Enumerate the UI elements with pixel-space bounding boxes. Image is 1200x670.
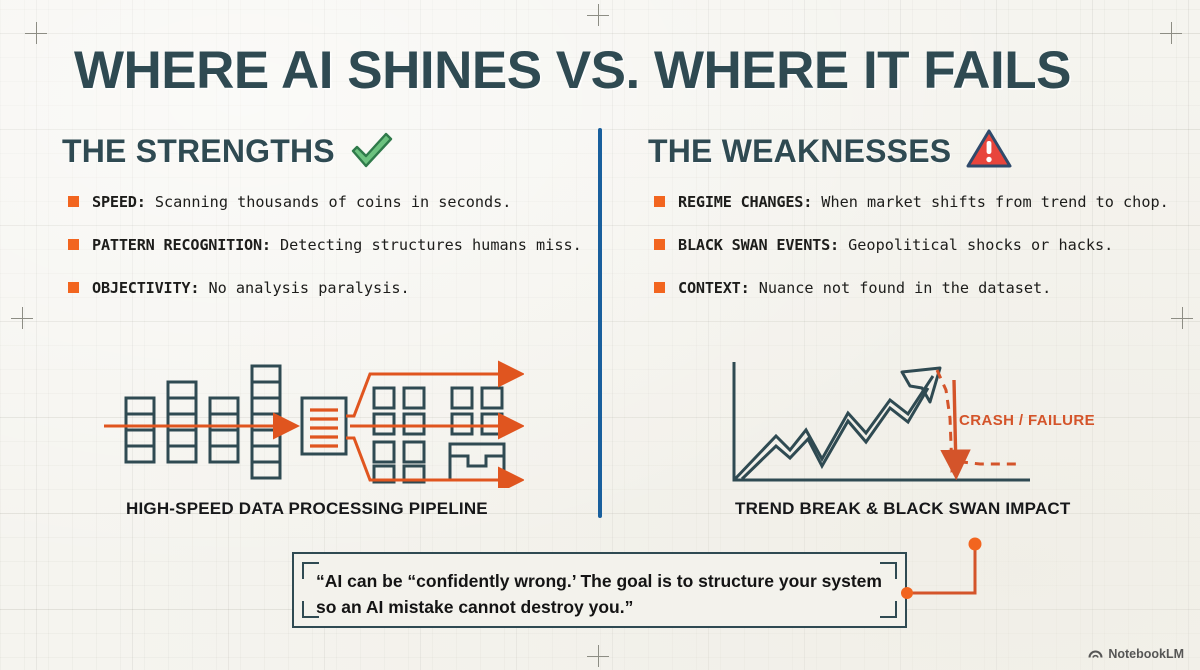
- strengths-bullet-list: SPEED: Scanning thousands of coins in se…: [62, 190, 582, 300]
- list-item: REGIME CHANGES: When market shifts from …: [648, 190, 1188, 214]
- crosshair-top-left: [25, 22, 47, 44]
- bullet-square-icon: [68, 196, 79, 207]
- crosshair-top-center: [587, 4, 609, 26]
- crosshair-top-right: [1160, 22, 1182, 44]
- bullet-term: PATTERN RECOGNITION:: [92, 236, 271, 254]
- weaknesses-column: THE WEAKNESSES REGIME CHANGES: When mark…: [648, 128, 1188, 319]
- bullet-text: Geopolitical shocks or hacks.: [839, 236, 1113, 254]
- strengths-heading-row: THE STRENGTHS: [62, 128, 582, 174]
- quote-box: “AI can be “confidently wrong.’ The goal…: [292, 552, 907, 628]
- bullet-text: Scanning thousands of coins in seconds.: [146, 193, 512, 211]
- bullet-term: REGIME CHANGES:: [678, 193, 812, 211]
- bullet-term: CONTEXT:: [678, 279, 750, 297]
- quote-text: “AI can be “confidently wrong.’ The goal…: [316, 568, 891, 620]
- list-item: OBJECTIVITY: No analysis paralysis.: [62, 276, 582, 300]
- warning-triangle-icon: [965, 127, 1013, 176]
- notebooklm-brand: NotebookLM: [1088, 646, 1184, 662]
- crash-impact-arrow: [954, 380, 956, 470]
- list-item: PATTERN RECOGNITION: Detecting structure…: [62, 233, 582, 257]
- bullet-square-icon: [68, 282, 79, 293]
- trend-chart-caption: TREND BREAK & BLACK SWAN IMPACT: [735, 499, 1070, 519]
- check-mark-icon: [349, 129, 395, 174]
- list-item: CONTEXT: Nuance not found in the dataset…: [648, 276, 1188, 300]
- crosshair-middle-left: [11, 307, 33, 329]
- bullet-square-icon: [654, 196, 665, 207]
- list-item: SPEED: Scanning thousands of coins in se…: [62, 190, 582, 214]
- uptrend-line: [735, 376, 933, 479]
- quote-connector: [898, 534, 998, 619]
- strengths-column: THE STRENGTHS SPEED: Scanning thousands …: [62, 128, 582, 319]
- pipeline-caption: HIGH-SPEED DATA PROCESSING PIPELINE: [126, 499, 488, 519]
- connector-dot-top: [969, 538, 982, 551]
- notebooklm-logo-icon: [1088, 646, 1103, 662]
- bullet-square-icon: [654, 282, 665, 293]
- crash-failure-label: CRASH / FAILURE: [959, 412, 1095, 429]
- crosshair-bottom-center: [587, 645, 609, 667]
- weaknesses-heading-row: THE WEAKNESSES: [648, 128, 1188, 174]
- bullet-term: BLACK SWAN EVENTS:: [678, 236, 839, 254]
- bullet-text: Nuance not found in the dataset.: [750, 279, 1052, 297]
- document-lines: [310, 410, 338, 446]
- bullet-text: No analysis paralysis.: [199, 279, 409, 297]
- strengths-heading: THE STRENGTHS: [62, 133, 335, 170]
- connector-dot-left: [901, 587, 913, 599]
- bullet-text: Detecting structures humans miss.: [271, 236, 582, 254]
- page-title: WHERE AI SHINES VS. WHERE IT FAILS: [74, 40, 1144, 102]
- bullet-term: OBJECTIVITY:: [92, 279, 199, 297]
- pipeline-diagram: [104, 358, 524, 493]
- bullet-square-icon: [68, 239, 79, 250]
- bullet-term: SPEED:: [92, 193, 146, 211]
- weaknesses-heading: THE WEAKNESSES: [648, 133, 951, 170]
- notebooklm-brand-label: NotebookLM: [1108, 647, 1184, 661]
- bullet-square-icon: [654, 239, 665, 250]
- weaknesses-bullet-list: REGIME CHANGES: When market shifts from …: [648, 190, 1188, 300]
- list-item: BLACK SWAN EVENTS: Geopolitical shocks o…: [648, 233, 1188, 257]
- infographic-canvas: WHERE AI SHINES VS. WHERE IT FAILS THE S…: [0, 0, 1200, 670]
- column-divider: [598, 128, 602, 518]
- bullet-text: When market shifts from trend to chop.: [812, 193, 1169, 211]
